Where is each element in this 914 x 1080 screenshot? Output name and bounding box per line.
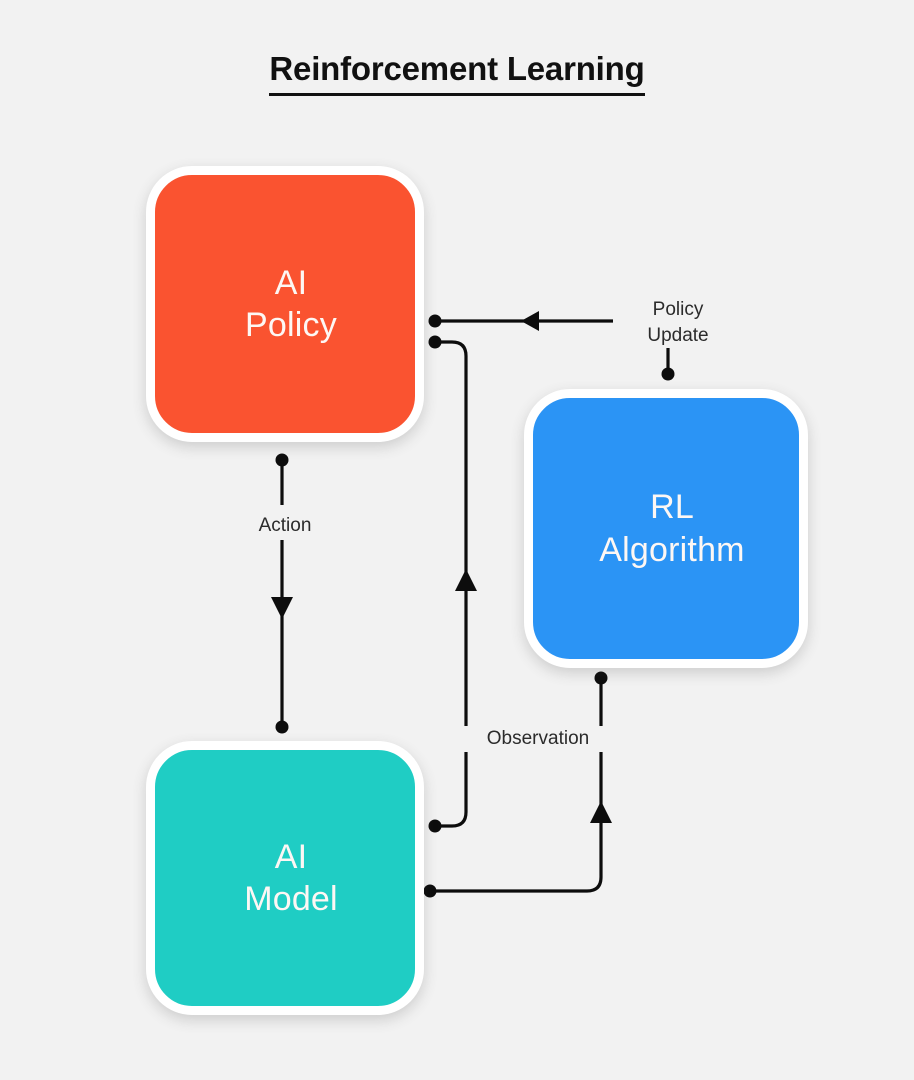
edge-label-observation: Observation — [455, 726, 621, 752]
edge-action — [271, 454, 293, 734]
edge-arrowhead — [455, 569, 477, 591]
node-ai-model-label: AI Model — [244, 836, 338, 921]
page-title: Reinforcement Learning — [0, 50, 914, 96]
page-title-text: Reinforcement Learning — [269, 50, 644, 96]
node-rl-algorithm[interactable]: RL Algorithm — [524, 389, 808, 668]
edge-label-policy-update: Policy Update — [613, 297, 743, 348]
edge-endpoint-dot — [595, 672, 608, 685]
edge-endpoint-dot — [429, 315, 442, 328]
edge-arrowhead — [590, 801, 612, 823]
edge-endpoint-dot — [276, 454, 289, 467]
edge-endpoint-dot — [424, 885, 437, 898]
diagram-canvas: Reinforcement Learning — [0, 0, 914, 1080]
edge-observation-to-policy — [429, 336, 478, 833]
edge-arrowhead — [521, 311, 539, 331]
edge-endpoint-dot — [429, 336, 442, 349]
edge-line — [435, 752, 466, 826]
edge-label-action: Action — [216, 513, 354, 539]
edge-observation-to-algorithm — [424, 672, 613, 898]
node-ai-model[interactable]: AI Model — [146, 741, 424, 1015]
edge-endpoint-dot — [662, 368, 675, 381]
edge-endpoint-dot — [276, 721, 289, 734]
node-rl-algorithm-label: RL Algorithm — [599, 486, 744, 571]
edge-line — [430, 752, 601, 891]
node-ai-policy-label: AI Policy — [245, 262, 337, 347]
edge-endpoint-dot — [429, 820, 442, 833]
edge-arrowhead — [271, 597, 293, 619]
node-ai-policy[interactable]: AI Policy — [146, 166, 424, 442]
edge-line — [435, 342, 466, 726]
